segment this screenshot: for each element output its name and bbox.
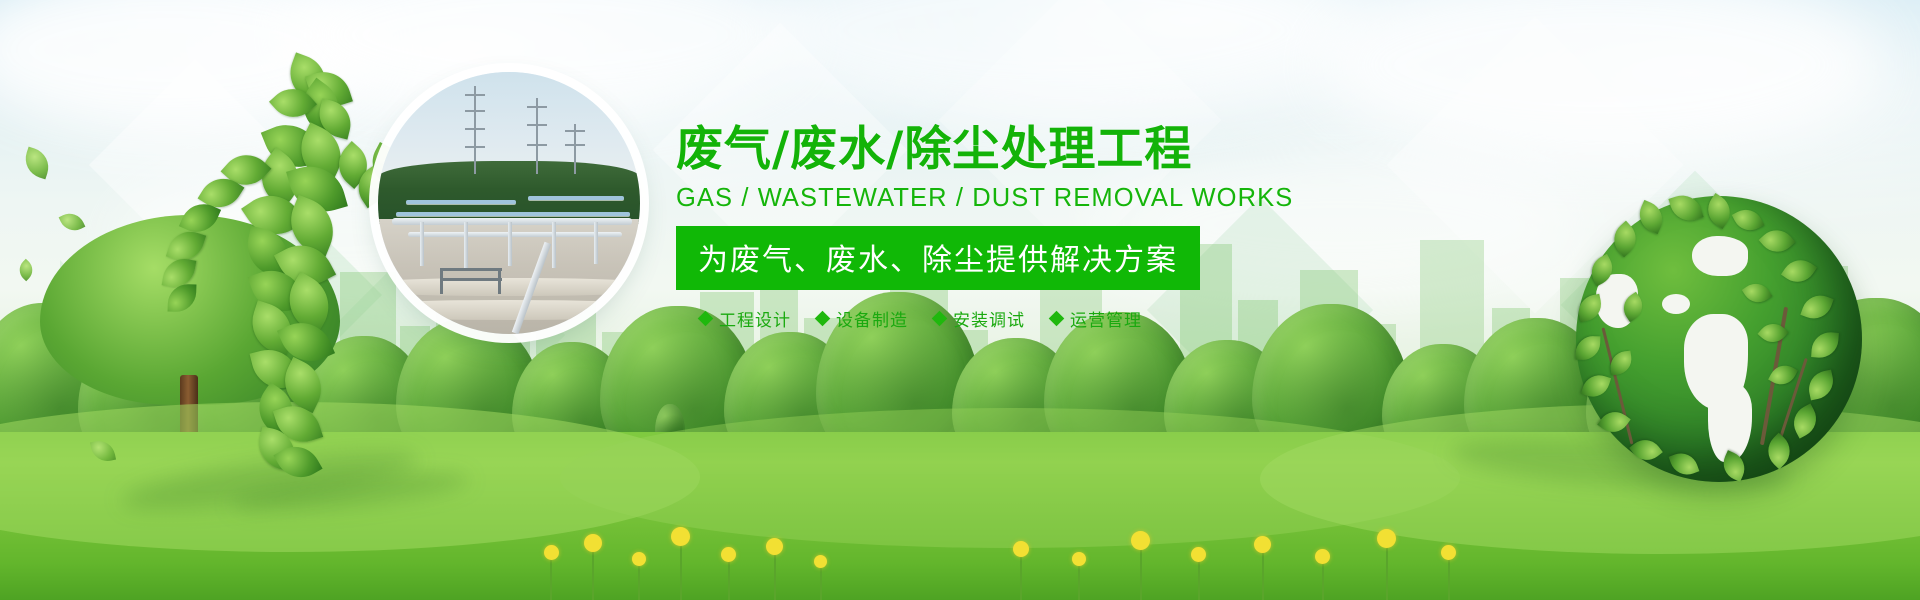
decorative-triangle bbox=[60, 260, 180, 380]
cloud bbox=[0, 0, 380, 130]
feature-label: 运营管理 bbox=[1070, 306, 1142, 331]
slogan-text: 为废气、废水、除尘提供解决方案 bbox=[698, 243, 1178, 278]
floating-leaf bbox=[59, 209, 86, 236]
page-title: 废气/废水/除尘处理工程 bbox=[676, 126, 1196, 173]
headline-text-block: 废气/废水/除尘处理工程 GAS / WASTEWATER / DUST REM… bbox=[676, 126, 1196, 331]
diamond-bullet-icon bbox=[932, 311, 948, 327]
decorative-triangle bbox=[1700, 250, 1830, 380]
wastewater-treatment-plant-photo bbox=[378, 72, 640, 334]
feature-item: 运营管理 bbox=[1051, 306, 1142, 331]
feature-list: 工程设计 设备制造 安装调试 运营管理 bbox=[676, 306, 1196, 331]
environmental-engineering-banner: 废气/废水/除尘处理工程 GAS / WASTEWATER / DUST REM… bbox=[0, 0, 1920, 600]
diamond-bullet-icon bbox=[698, 311, 714, 327]
grass-lawn bbox=[0, 432, 1920, 600]
cloud bbox=[760, 0, 1360, 120]
feature-item: 工程设计 bbox=[700, 306, 791, 331]
feature-label: 设备制造 bbox=[836, 306, 908, 331]
cloud bbox=[1320, 0, 1880, 160]
slogan-bar: 为废气、废水、除尘提供解决方案 bbox=[676, 226, 1200, 290]
diamond-bullet-icon bbox=[1049, 311, 1065, 327]
feature-label: 安装调试 bbox=[953, 306, 1025, 331]
feature-item: 安装调试 bbox=[934, 306, 1025, 331]
floating-leaf bbox=[21, 147, 54, 180]
feature-label: 工程设计 bbox=[719, 306, 791, 331]
english-subtitle: GAS / WASTEWATER / DUST REMOVAL WORKS bbox=[676, 184, 1196, 213]
decorative-diamond bbox=[198, 203, 382, 387]
decorative-diamond bbox=[89, 59, 301, 271]
floating-leaf bbox=[15, 259, 38, 282]
decorative-diamond bbox=[1561, 171, 1830, 440]
diamond-bullet-icon bbox=[815, 311, 831, 327]
decorative-diamond bbox=[1387, 17, 1684, 314]
feature-item: 设备制造 bbox=[817, 306, 908, 331]
